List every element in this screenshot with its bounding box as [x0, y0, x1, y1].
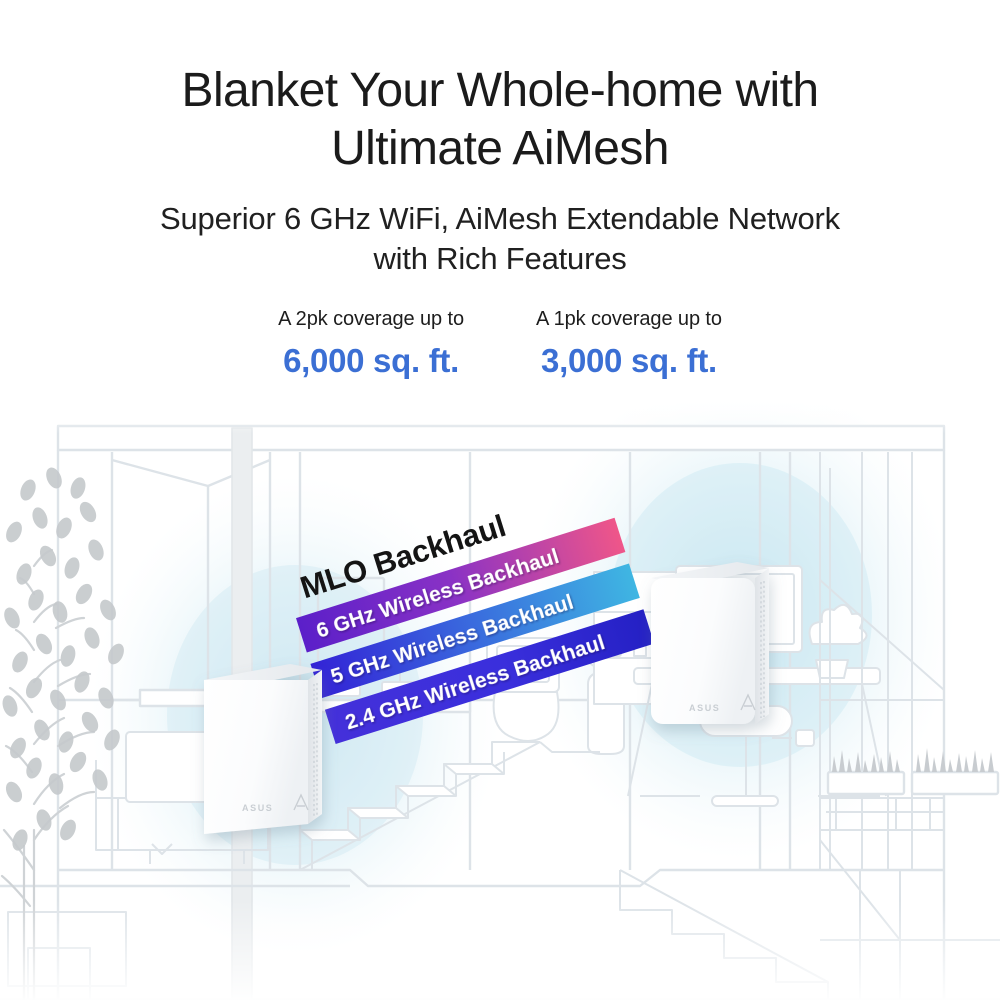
stat-2pk-label: A 2pk coverage up to	[278, 307, 464, 331]
grass-planter	[828, 772, 998, 794]
home-illustration-scene	[0, 400, 1000, 1000]
stat-1pk-label: A 1pk coverage up to	[536, 307, 722, 331]
asus-wordmark: ASUS	[689, 703, 720, 713]
page-title: Blanket Your Whole-home with Ultimate Ai…	[0, 0, 1000, 177]
aimesh-node-left: ASUS	[196, 658, 346, 848]
stat-1pk: A 1pk coverage up to 3,000 sq. ft.	[536, 307, 722, 381]
marketing-hero-banner: ASUS	[0, 0, 1000, 1000]
asus-wordmark: ASUS	[242, 803, 273, 813]
toilet	[487, 638, 559, 741]
stat-1pk-value: 3,000 sq. ft.	[536, 340, 722, 381]
hero-text-block: Blanket Your Whole-home with Ultimate Ai…	[0, 0, 1000, 381]
page-subtitle: Superior 6 GHz WiFi, AiMesh Extendable N…	[0, 177, 1000, 278]
stat-2pk-value: 6,000 sq. ft.	[278, 340, 464, 381]
coverage-stats-row: A 2pk coverage up to 6,000 sq. ft. A 1pk…	[0, 279, 1000, 381]
aimesh-node-right: ASUS	[643, 556, 795, 748]
stat-2pk: A 2pk coverage up to 6,000 sq. ft.	[278, 307, 464, 381]
